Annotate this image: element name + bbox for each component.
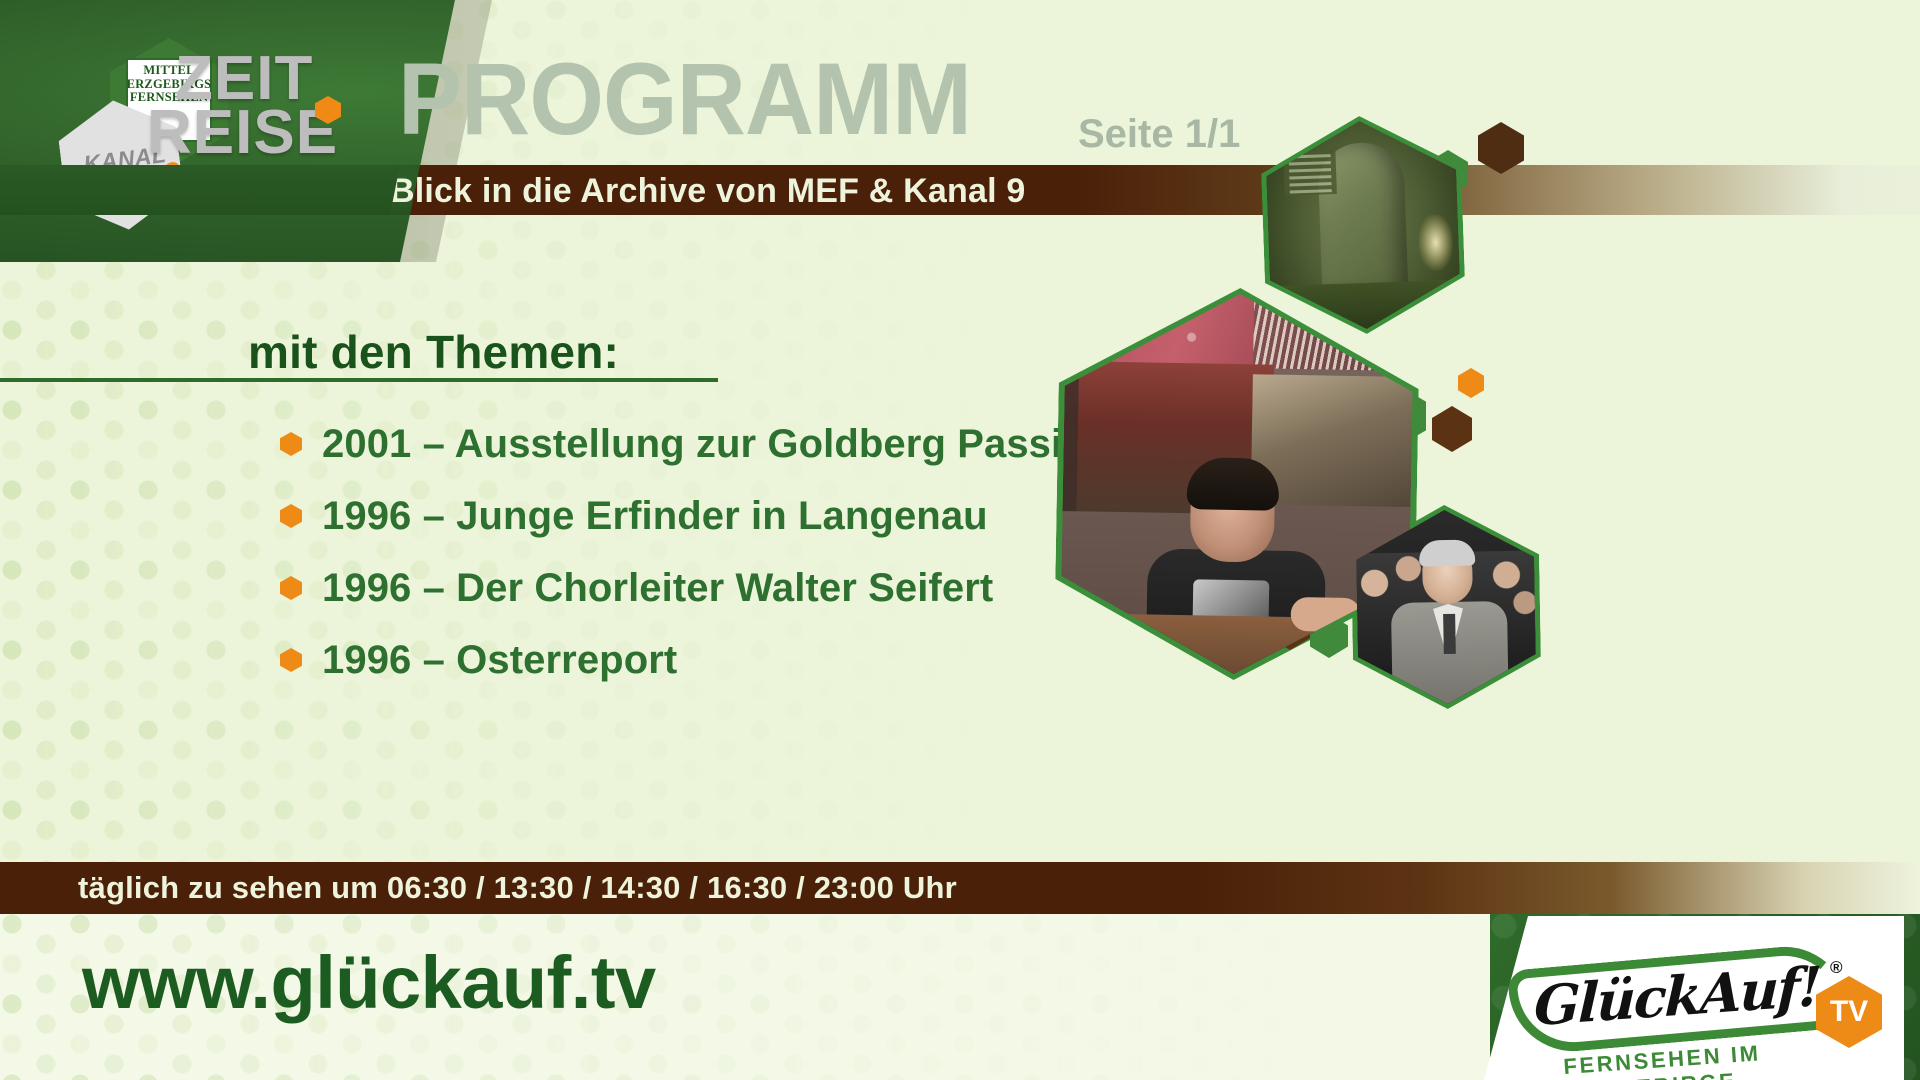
website-url[interactable]: www.glückauf.tv <box>82 940 656 1025</box>
man-hair <box>1419 539 1475 566</box>
page-indicator: Seite 1/1 <box>1078 112 1240 157</box>
topic-label: 2001 – Ausstellung zur Goldberg Passion <box>322 422 1111 467</box>
subtitle-bar-wedge <box>0 165 420 215</box>
show-title: ZEIT REISE <box>175 52 338 160</box>
glueckauf-tv-logo: GlückAuf! ® TV FERNSEHEN IM ERZGEBIRGE <box>1510 946 1910 1066</box>
program-slide: MITTEL ERZGEBIRGS FERNSEHEN KANAL Erzgeb… <box>0 0 1920 1080</box>
subtitle-text: Blick in die Archive von MEF & Kanal 9 <box>390 172 1026 211</box>
topic-label: 1996 – Der Chorleiter Walter Seifert <box>322 566 993 611</box>
hexagon-bullet-icon <box>280 432 302 456</box>
list-item: 1996 – Osterreport <box>280 624 1280 696</box>
topic-label: 1996 – Osterreport <box>322 638 677 683</box>
show-title-line-2: REISE <box>147 106 338 160</box>
topics-heading-underline <box>0 378 718 382</box>
man-tie <box>1443 614 1456 654</box>
patterned-fabric <box>1069 295 1251 362</box>
hexagon-bullet-icon <box>280 576 302 600</box>
light-glow <box>1418 214 1454 271</box>
hexagon-bullet-icon <box>280 504 302 528</box>
broadcast-times-text: täglich zu sehen um 06:30 / 13:30 / 14:3… <box>78 870 957 906</box>
decor-hexagon-brown-icon <box>1432 406 1472 452</box>
decor-hexagon-orange-icon <box>1458 368 1484 398</box>
topic-label: 1996 – Junge Erfinder in Langenau <box>322 494 988 539</box>
page-title: PROGRAMM <box>398 48 971 150</box>
hexagon-bullet-icon <box>280 648 302 672</box>
registered-trademark-icon: ® <box>1830 958 1843 978</box>
topics-heading: mit den Themen: <box>248 325 619 379</box>
